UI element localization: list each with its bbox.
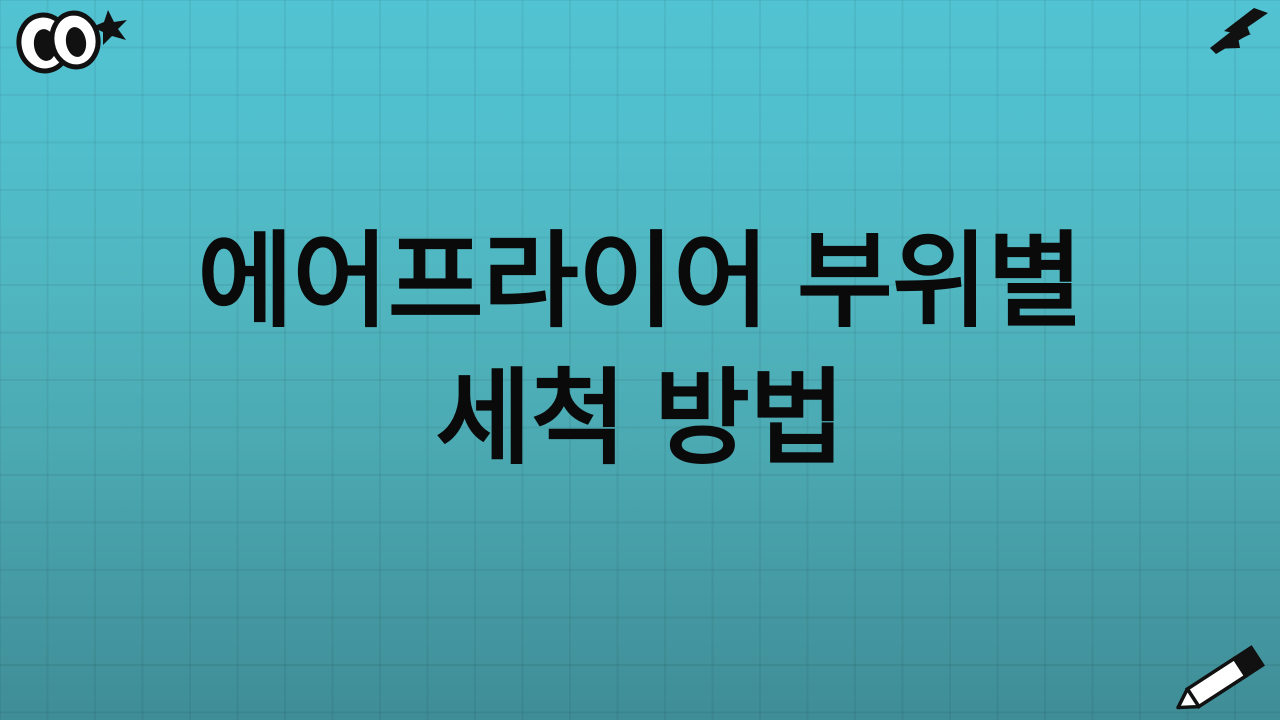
eye-right [48,10,102,71]
googly-eyes-icon [8,4,128,74]
pencil-icon [1166,644,1270,718]
page-title-line-2: 세척 방법 [40,351,1240,488]
page-title-line-1: 에어프라이어 부위별 [40,214,1240,351]
arrow-down-left-icon [1202,4,1274,60]
eye-left [15,11,73,74]
star-icon [92,10,127,45]
thumbnail-canvas: 에어프라이어 부위별 세척 방법 [0,0,1280,720]
page-title: 에어프라이어 부위별 세척 방법 [0,214,1280,489]
